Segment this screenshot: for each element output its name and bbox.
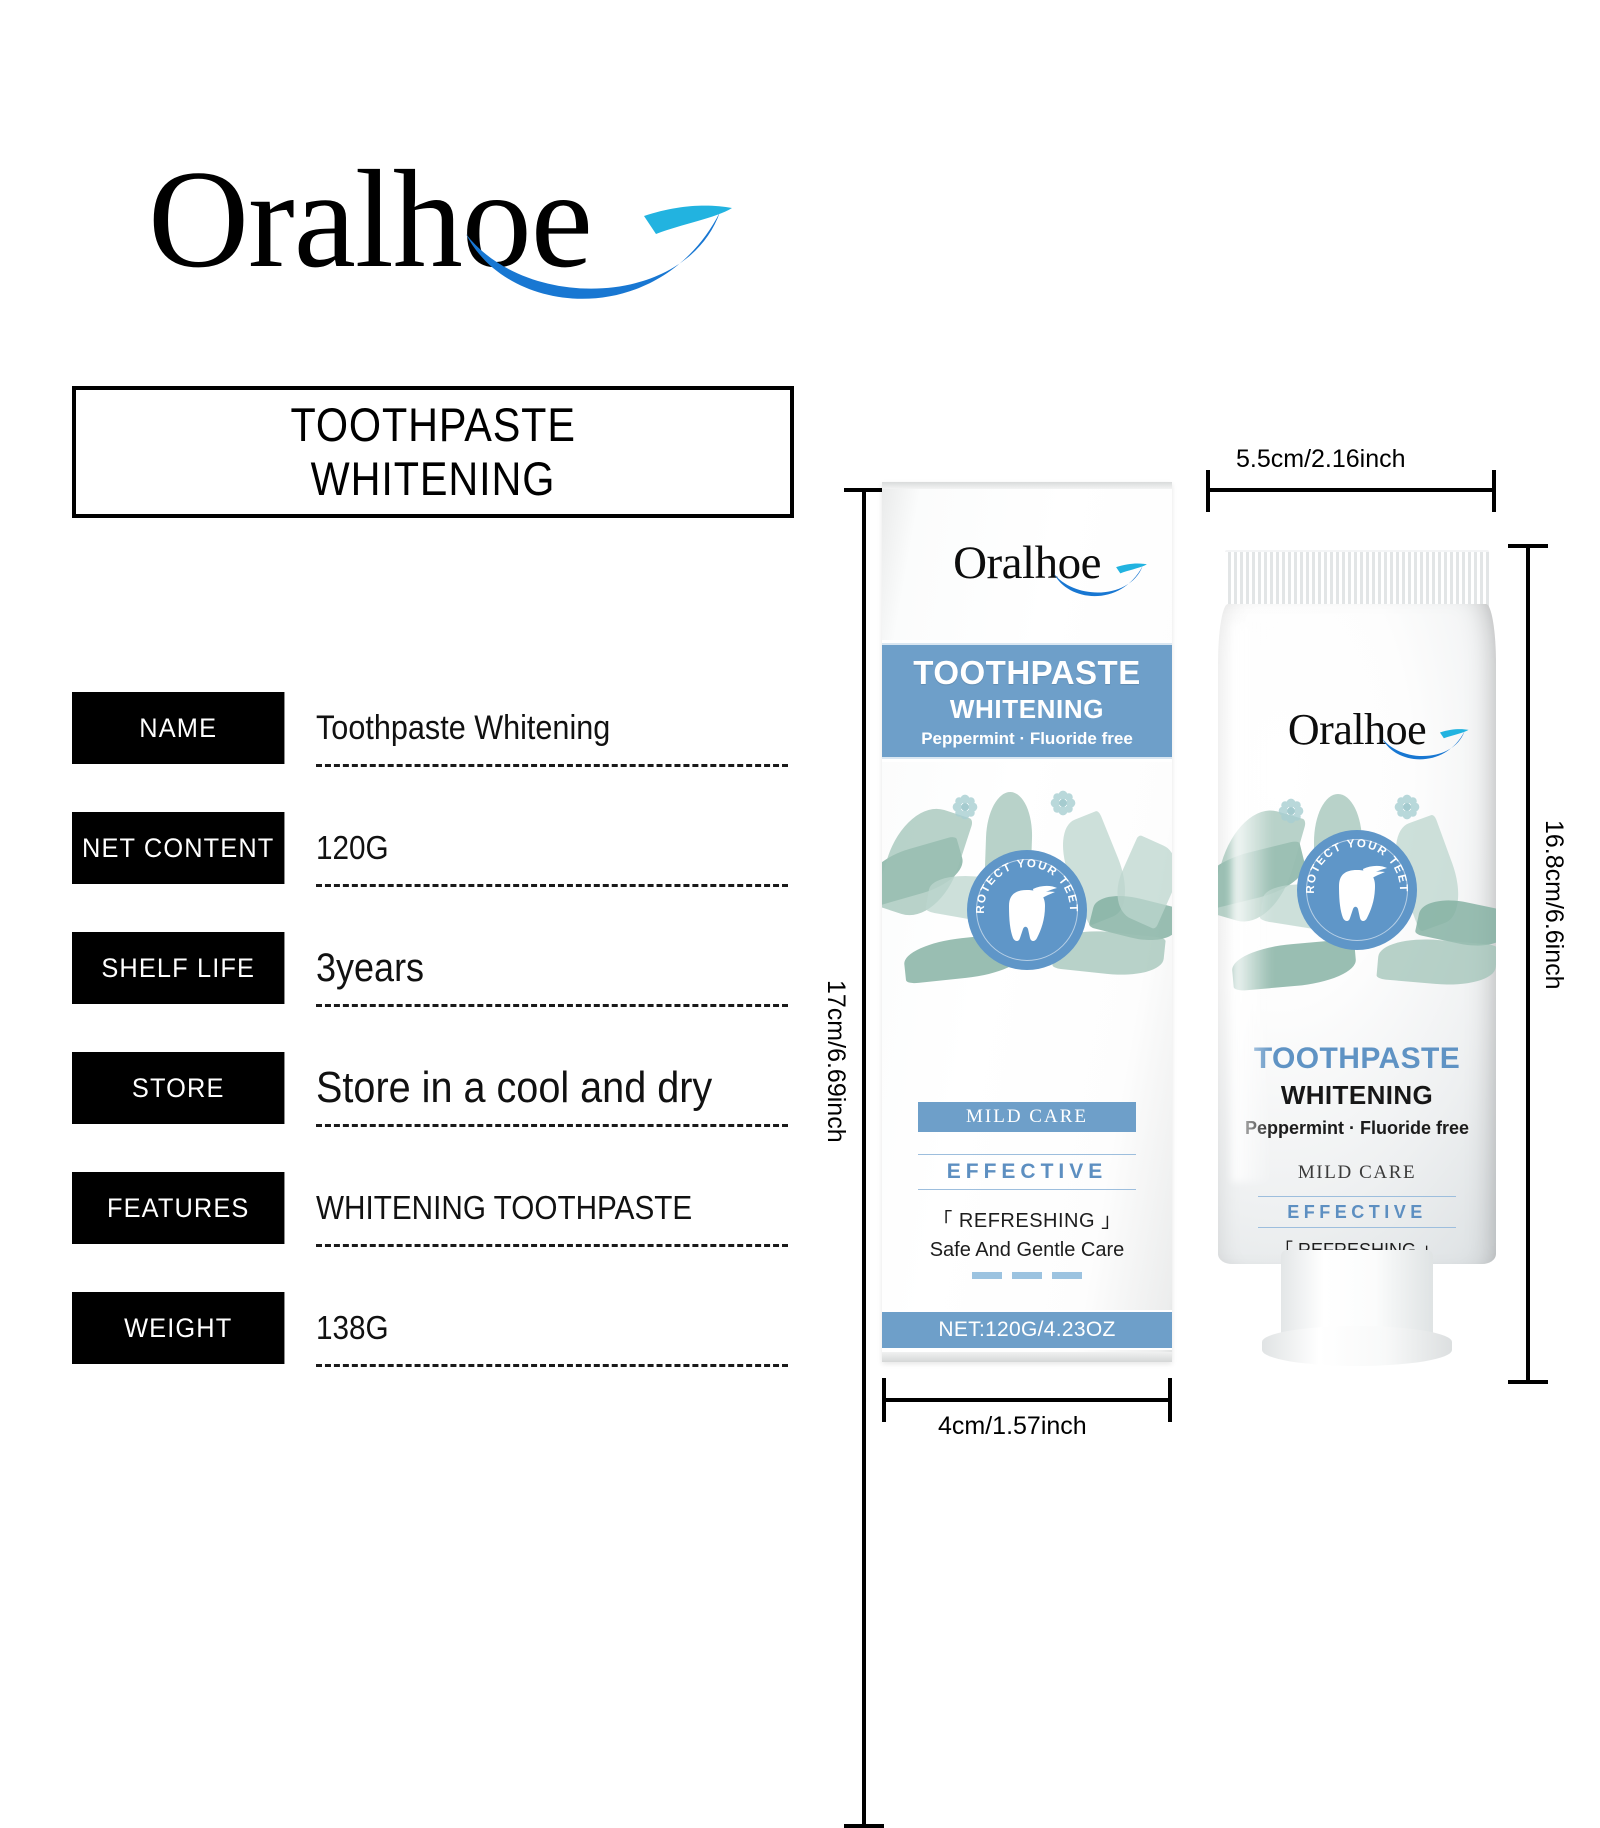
carton-logo: Oralhoe bbox=[882, 540, 1172, 604]
dim-box-height-tick-top bbox=[844, 488, 884, 492]
spec-value-features: WHITENING TOOTHPASTE bbox=[316, 1172, 692, 1244]
spec-value-shelf-life: 3years bbox=[316, 932, 424, 1004]
spec-divider bbox=[316, 1244, 788, 1247]
spec-divider bbox=[316, 1124, 788, 1127]
table-row: NET CONTENT 120G bbox=[72, 812, 788, 932]
carton-band-subtitle: WHITENING bbox=[950, 694, 1104, 725]
table-row: SHELF LIFE 3years bbox=[72, 932, 788, 1052]
dim-tube-width-tick-right bbox=[1492, 470, 1496, 512]
carton-dash-marks bbox=[882, 1272, 1172, 1279]
dim-box-height-line bbox=[862, 488, 866, 1828]
carton-effective-label: EFFECTIVE bbox=[947, 1160, 1108, 1184]
spec-key-shelf-life: SHELF LIFE bbox=[72, 932, 284, 1004]
dim-box-width-tick-left bbox=[882, 1378, 886, 1422]
page-title-line1: TOOTHPASTE bbox=[290, 398, 575, 452]
table-row: NAME Toothpaste Whitening bbox=[72, 692, 788, 812]
spec-key-net-content: NET CONTENT bbox=[72, 812, 284, 884]
product-image-area: 17cm/6.69inch 4cm/1.57inch 5.5cm/2.16inc… bbox=[820, 440, 1600, 1500]
carton-band-title: TOOTHPASTE bbox=[913, 654, 1140, 692]
page-title-line2: WHITENING bbox=[311, 452, 556, 506]
carton-net-label: NET:120G/4.23OZ bbox=[938, 1318, 1115, 1342]
flower-icon bbox=[1278, 798, 1304, 824]
carton-mild-care-band: MILD CARE bbox=[918, 1102, 1136, 1132]
table-row: FEATURES WHITENING TOOTHPASTE bbox=[72, 1172, 788, 1292]
carton-refreshing-block: 「 REFRESHING 」 Safe And Gentle Care bbox=[882, 1204, 1172, 1262]
dim-tube-width-label: 5.5cm/2.16inch bbox=[1236, 445, 1406, 474]
dim-box-width-line bbox=[882, 1398, 1172, 1402]
spec-value-weight: 138G bbox=[316, 1292, 389, 1364]
spec-divider bbox=[316, 884, 788, 887]
dim-tube-height-tick-bottom bbox=[1508, 1380, 1548, 1384]
brand-swoosh-icon bbox=[448, 190, 748, 350]
dim-tube-width-tick-left bbox=[1206, 470, 1210, 512]
page-title: TOOTHPASTE WHITENING bbox=[72, 386, 794, 518]
carton-bottom-edge bbox=[882, 1352, 1172, 1362]
flower-icon bbox=[1050, 790, 1076, 816]
tube-subtitle: WHITENING bbox=[1218, 1080, 1496, 1111]
spec-value-name: Toothpaste Whitening bbox=[316, 692, 610, 764]
tube-effective-band: EFFECTIVE bbox=[1258, 1196, 1456, 1228]
tube-cap-base bbox=[1262, 1326, 1452, 1366]
carton-top-edge bbox=[882, 482, 1172, 489]
product-tube: Oralhoe bbox=[1218, 550, 1496, 1380]
tube-body: Oralhoe bbox=[1218, 604, 1496, 1264]
table-row: STORE Store in a cool and dry bbox=[72, 1052, 788, 1172]
tube-protect-seal: PROTECT YOUR TEETH bbox=[1297, 830, 1417, 950]
spec-key-name: NAME bbox=[72, 692, 284, 764]
carton-protect-seal: PROTECT YOUR TEETH bbox=[967, 850, 1087, 970]
product-carton: Oralhoe TOOTHPASTE WHITENING Peppermint … bbox=[882, 482, 1172, 1362]
tooth-icon bbox=[1009, 886, 1057, 941]
tube-title: TOOTHPASTE bbox=[1218, 1042, 1496, 1076]
spec-divider bbox=[316, 1364, 788, 1367]
spec-value-store: Store in a cool and dry bbox=[316, 1052, 712, 1124]
flower-icon bbox=[952, 794, 978, 820]
tube-brand-swoosh-icon bbox=[1373, 724, 1477, 776]
carton-safe-care-label: Safe And Gentle Care bbox=[882, 1239, 1172, 1262]
brand-logo: Oralhoe bbox=[148, 150, 748, 330]
spec-divider bbox=[316, 764, 788, 767]
dim-box-width-tick-right bbox=[1168, 1378, 1172, 1422]
tube-flavor: Peppermint · Fluoride free bbox=[1218, 1118, 1496, 1139]
tube-logo: Oralhoe bbox=[1218, 708, 1496, 768]
tube-crimp bbox=[1225, 550, 1489, 608]
flower-icon bbox=[1394, 794, 1420, 820]
spec-key-weight: WEIGHT bbox=[72, 1292, 284, 1364]
dim-tube-width-line bbox=[1206, 488, 1496, 492]
tube-mild-care-label: MILD CARE bbox=[1218, 1162, 1496, 1184]
dim-box-height-label: 17cm/6.69inch bbox=[821, 980, 850, 1143]
tooth-icon bbox=[1339, 866, 1387, 921]
carton-title-band: TOOTHPASTE WHITENING Peppermint · Fluori… bbox=[882, 640, 1172, 762]
carton-brand-swoosh-icon bbox=[1045, 558, 1155, 614]
dim-tube-height-label: 16.8cm/6.6inch bbox=[1539, 820, 1568, 990]
carton-band-flavor: Peppermint · Fluoride free bbox=[921, 729, 1133, 749]
dim-tube-height-line bbox=[1526, 544, 1530, 1384]
spec-divider bbox=[316, 1004, 788, 1007]
carton-mild-care-label: MILD CARE bbox=[966, 1106, 1088, 1128]
tube-effective-label: EFFECTIVE bbox=[1287, 1202, 1427, 1223]
carton-net-band: NET:120G/4.23OZ bbox=[882, 1310, 1172, 1350]
spec-value-net-content: 120G bbox=[316, 812, 389, 884]
spec-key-features: FEATURES bbox=[72, 1172, 284, 1244]
carton-effective-band: EFFECTIVE bbox=[918, 1154, 1136, 1190]
specification-table: NAME Toothpaste Whitening NET CONTENT 12… bbox=[72, 692, 788, 1412]
table-row: WEIGHT 138G bbox=[72, 1292, 788, 1412]
carton-refreshing-label: 「 REFRESHING 」 bbox=[882, 1204, 1172, 1233]
dim-box-width-label: 4cm/1.57inch bbox=[938, 1412, 1087, 1441]
dim-tube-height-tick-top bbox=[1508, 544, 1548, 548]
spec-key-store: STORE bbox=[72, 1052, 284, 1124]
dim-box-height-tick-bottom bbox=[844, 1824, 884, 1828]
